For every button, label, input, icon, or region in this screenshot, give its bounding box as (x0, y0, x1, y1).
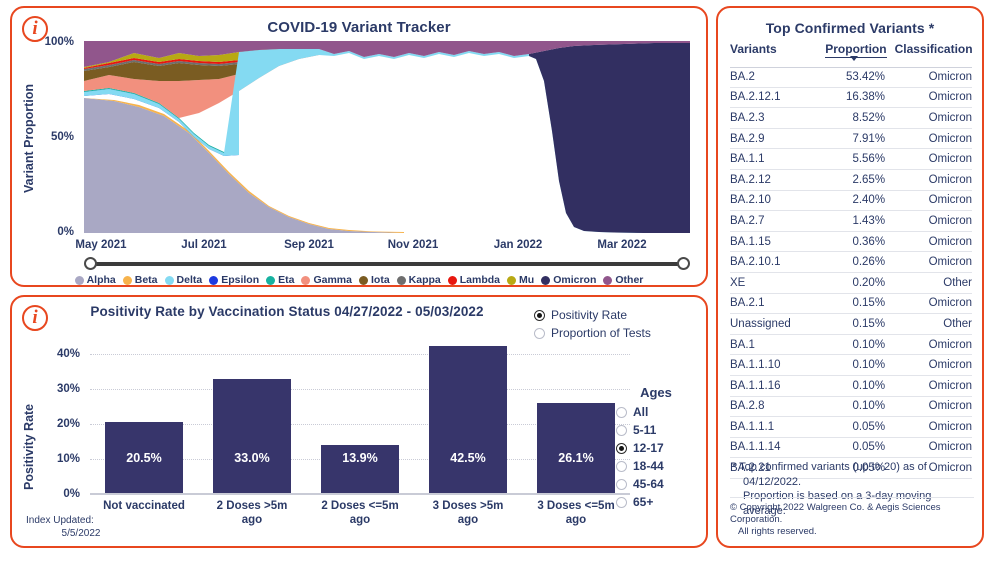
category-line-2: ago (417, 513, 520, 527)
legend-swatch-icon (359, 276, 368, 285)
radio-icon[interactable] (616, 425, 627, 436)
table-row[interactable]: BA.1.150.36%Omicron (730, 232, 972, 253)
bar-value-label: 42.5% (450, 451, 485, 493)
positivity-ytick-0: 0% (40, 488, 80, 500)
copyright-line: © Copyright 2022 Walgreen Co. & Aegis Sc… (730, 502, 974, 526)
table-row[interactable]: BA.1.1.10.05%Omicron (730, 417, 972, 438)
legend-item-eta[interactable]: Eta (266, 274, 294, 286)
radio-icon[interactable] (616, 407, 627, 418)
age-radio-label: 65+ (633, 495, 653, 509)
table-row[interactable]: BA.1.15.56%Omicron (730, 149, 972, 170)
variants-table-body: BA.253.42%OmicronBA.2.12.116.38%OmicronB… (730, 67, 972, 479)
slider-track[interactable] (91, 262, 683, 266)
footnote-line: 04/12/2022. (732, 475, 972, 490)
table-row[interactable]: BA.2.122.65%Omicron (730, 170, 972, 191)
cell-proportion: 0.15% (817, 318, 891, 330)
cell-variant: BA.1 (730, 339, 817, 351)
bar-category-label: 3 Doses <=5mago (525, 499, 628, 539)
category-line-1: 3 Doses <=5m (525, 499, 628, 513)
slider-handle-start[interactable] (84, 257, 97, 270)
variant-xtick-3: Nov 2021 (368, 239, 458, 251)
legend-item-alpha[interactable]: Alpha (75, 274, 116, 286)
slider-handle-end[interactable] (677, 257, 690, 270)
legend-label: Epsilon (221, 274, 259, 286)
table-row[interactable]: BA.2.10.10.26%Omicron (730, 252, 972, 273)
x-axis-baseline (90, 493, 630, 495)
cell-proportion: 7.91% (817, 133, 891, 145)
cell-classification: Omicron (891, 194, 972, 206)
cell-variant: BA.2.1 (730, 297, 817, 309)
positivity-ytick-20: 20% (40, 418, 80, 430)
cell-proportion: 0.10% (817, 380, 891, 392)
variant-area-chart[interactable] (84, 41, 690, 233)
age-radio-65plus[interactable]: 65+ (616, 493, 696, 511)
cell-variant: BA.2.7 (730, 215, 817, 227)
cell-classification: Omicron (891, 215, 972, 227)
positivity-ytick-10: 10% (40, 453, 80, 465)
bar[interactable]: 20.5% (105, 422, 183, 493)
index-updated-label: Index Updated: (26, 515, 94, 526)
table-row[interactable]: BA.253.42%Omicron (730, 67, 972, 88)
variant-tracker-panel: i COVID-19 Variant Tracker Variant Propo… (10, 6, 708, 287)
variant-legend: AlphaBetaDeltaEpsilonEtaGammaIotaKappaLa… (12, 274, 706, 286)
positivity-ytick-40: 40% (40, 348, 80, 360)
bar[interactable]: 13.9% (321, 445, 399, 493)
table-title: Top Confirmed Variants * (718, 20, 982, 36)
variant-ytick-50: 50% (34, 131, 74, 143)
legend-swatch-icon (301, 276, 310, 285)
legend-label: Iota (371, 274, 390, 286)
table-row[interactable]: BA.2.12.116.38%Omicron (730, 88, 972, 109)
cell-classification: Omicron (891, 91, 972, 103)
bar-wrapper: 42.5% (417, 337, 520, 493)
area-omicron (529, 43, 690, 233)
radio-icon[interactable] (616, 479, 627, 490)
cell-classification: Omicron (891, 153, 972, 165)
legend-item-kappa[interactable]: Kappa (397, 274, 441, 286)
positivity-rate-panel: i Positivity Rate by Vaccination Status … (10, 295, 708, 548)
legend-label: Beta (135, 274, 158, 286)
legend-swatch-icon (603, 276, 612, 285)
column-header-classification[interactable]: Classification (887, 41, 972, 67)
cell-classification: Omicron (891, 400, 972, 412)
cell-variant: BA.1.15 (730, 236, 817, 248)
category-line-1: 3 Doses >5m (417, 499, 520, 513)
legend-label: Mu (519, 274, 534, 286)
cell-variant: BA.2.12 (730, 174, 817, 186)
cell-variant: BA.1.1.14 (730, 441, 817, 453)
cell-variant: BA.1.1.10 (730, 359, 817, 371)
variant-xtick-2: Sep 2021 (264, 239, 354, 251)
cell-proportion: 0.05% (817, 421, 891, 433)
legend-swatch-icon (75, 276, 84, 285)
legend-label: Eta (278, 274, 294, 286)
variant-xtick-4: Jan 2022 (473, 239, 563, 251)
cell-proportion: 16.38% (817, 91, 891, 103)
cell-classification: Omicron (891, 174, 972, 186)
legend-swatch-icon (165, 276, 174, 285)
legend-item-gamma[interactable]: Gamma (301, 274, 352, 286)
cell-proportion: 0.10% (817, 339, 891, 351)
table-row[interactable]: BA.2.97.91%Omicron (730, 129, 972, 150)
variant-area-svg (84, 41, 690, 233)
column-header-proportion[interactable]: Proportion (817, 41, 886, 67)
cell-proportion: 53.42% (817, 71, 891, 83)
table-row[interactable]: BA.2.102.40%Omicron (730, 191, 972, 212)
legend-label: Kappa (409, 274, 441, 286)
legend-label: Other (615, 274, 643, 286)
sort-descending-icon (850, 56, 858, 61)
variant-ytick-100: 100% (34, 36, 74, 48)
cell-proportion: 0.36% (817, 236, 891, 248)
legend-item-mu[interactable]: Mu (507, 274, 534, 286)
table-row[interactable]: BA.1.1.100.10%Omicron (730, 355, 972, 376)
variant-xtick-0: May 2021 (56, 239, 146, 251)
table-row[interactable]: XE0.20%Other (730, 273, 972, 294)
legend-item-other[interactable]: Other (603, 274, 643, 286)
radio-icon[interactable] (616, 443, 627, 454)
bar-wrapper: 13.9% (309, 337, 412, 493)
bar[interactable]: 33.0% (213, 379, 291, 493)
index-updated: Index Updated: 5/5/2022 (26, 514, 136, 540)
variant-xtick-5: Mar 2022 (577, 239, 667, 251)
cell-variant: BA.2.10.1 (730, 256, 817, 268)
cell-proportion: 5.56% (817, 153, 891, 165)
legend-item-lambda[interactable]: Lambda (448, 274, 500, 286)
legend-swatch-icon (123, 276, 132, 285)
category-line-2: ago (525, 513, 628, 527)
cell-classification: Omicron (891, 112, 972, 124)
bar-wrapper: 20.5% (93, 337, 196, 493)
bar-category-label: 2 Doses <=5mago (309, 499, 412, 539)
footnote-line: * Top confirmed variants (up to 20) as o… (732, 460, 972, 475)
bar-category-label: 2 Doses >5mago (201, 499, 304, 539)
legend-label: Lambda (460, 274, 500, 286)
cell-classification: Omicron (891, 359, 972, 371)
cell-proportion: 8.52% (817, 112, 891, 124)
cell-proportion: 0.10% (817, 400, 891, 412)
dashboard-root: i COVID-19 Variant Tracker Variant Propo… (0, 0, 992, 561)
cell-classification: Other (891, 277, 972, 289)
cell-proportion: 2.65% (817, 174, 891, 186)
cell-variant: BA.2.12.1 (730, 91, 817, 103)
cell-classification: Omicron (891, 380, 972, 392)
age-radio-label: 5-11 (633, 423, 656, 437)
bar-category-label: 3 Doses >5mago (417, 499, 520, 539)
bar-category-labels: Not vaccinated2 Doses >5mago2 Doses <=5m… (90, 499, 630, 539)
top-confirmed-variants-panel: Top Confirmed Variants * Variants Propor… (716, 6, 984, 548)
variant-ytick-0: 0% (34, 226, 74, 238)
legend-label: Gamma (313, 274, 352, 286)
table-row[interactable]: BA.1.1.140.05%Omicron (730, 438, 972, 459)
category-line-1: Not vaccinated (93, 499, 196, 513)
legend-swatch-icon (397, 276, 406, 285)
cell-classification: Omicron (891, 236, 972, 248)
positivity-bar-chart: 20.5%33.0%13.9%42.5%26.1% (90, 337, 630, 495)
table-header-row: Variants Proportion Classification (730, 41, 972, 68)
legend-item-omicron[interactable]: Omicron (541, 274, 596, 286)
bar-wrapper: 33.0% (201, 337, 304, 493)
positivity-y-axis-label: Positivity Rate (22, 367, 40, 527)
legend-item-iota[interactable]: Iota (359, 274, 390, 286)
cell-variant: BA.2.8 (730, 400, 817, 412)
category-line-2: ago (309, 513, 412, 527)
table-row[interactable]: BA.2.71.43%Omicron (730, 211, 972, 232)
bar-series: 20.5%33.0%13.9%42.5%26.1% (90, 337, 630, 493)
table-row[interactable]: BA.1.1.160.10%Omicron (730, 376, 972, 397)
cell-classification: Omicron (891, 421, 972, 433)
legend-label: Omicron (553, 274, 596, 286)
age-radio-label: 45-64 (633, 477, 664, 491)
cell-variant: BA.1.1 (730, 153, 817, 165)
cell-classification: Omicron (891, 339, 972, 351)
radio-icon[interactable] (534, 310, 545, 321)
table-row[interactable]: BA.2.80.10%Omicron (730, 397, 972, 418)
cell-proportion: 2.40% (817, 194, 891, 206)
cell-variant: Unassigned (730, 318, 817, 330)
category-line-1: 2 Doses <=5m (309, 499, 412, 513)
cell-classification: Omicron (891, 133, 972, 145)
cell-variant: BA.1.1.16 (730, 380, 817, 392)
cell-proportion: 1.43% (817, 215, 891, 227)
cell-variant: BA.2.9 (730, 133, 817, 145)
age-radio-5-11[interactable]: 5-11 (616, 421, 696, 439)
bar[interactable]: 42.5% (429, 346, 507, 493)
legend-item-beta[interactable]: Beta (123, 274, 158, 286)
age-radio-label: 18-44 (633, 459, 664, 473)
table-row[interactable]: Unassigned0.15%Other (730, 314, 972, 335)
cell-proportion: 0.10% (817, 359, 891, 371)
info-icon[interactable]: i (22, 305, 48, 331)
column-header-variants[interactable]: Variants (730, 41, 817, 67)
legend-swatch-icon (266, 276, 275, 285)
age-radio-18-44[interactable]: 18-44 (616, 457, 696, 475)
metric-radio-positivity-rate[interactable]: Positivity Rate (534, 306, 694, 324)
age-radio-12-17[interactable]: 12-17 (616, 439, 696, 457)
cell-proportion: 0.20% (817, 277, 891, 289)
age-radio-label: 12-17 (633, 441, 664, 455)
ages-group-title: Ages (616, 385, 696, 400)
metric-radio-label: Positivity Rate (551, 308, 627, 322)
table-row[interactable]: BA.10.10%Omicron (730, 335, 972, 356)
bar-value-label: 20.5% (126, 451, 161, 493)
cell-proportion: 0.05% (817, 441, 891, 453)
cell-variant: XE (730, 277, 817, 289)
cell-classification: Omicron (891, 441, 972, 453)
index-updated-date: 5/5/2022 (26, 527, 136, 540)
bar-value-label: 13.9% (342, 451, 377, 493)
category-line-1: 2 Doses >5m (201, 499, 304, 513)
copyright-notice: © Copyright 2022 Walgreen Co. & Aegis Sc… (730, 497, 974, 538)
cell-classification: Omicron (891, 71, 972, 83)
age-radio-45-64[interactable]: 45-64 (616, 475, 696, 493)
copyright-line: All rights reserved. (730, 526, 974, 538)
radio-icon[interactable] (616, 497, 627, 508)
bar[interactable]: 26.1% (537, 403, 615, 493)
table-row[interactable]: BA.2.10.15%Omicron (730, 294, 972, 315)
cell-proportion: 0.15% (817, 297, 891, 309)
cell-classification: Omicron (891, 297, 972, 309)
cell-proportion: 0.26% (817, 256, 891, 268)
legend-item-epsilon[interactable]: Epsilon (209, 274, 259, 286)
legend-label: Alpha (87, 274, 116, 286)
ages-radio-group[interactable]: Ages All5-1112-1718-4445-6465+ (616, 385, 696, 511)
legend-swatch-icon (541, 276, 550, 285)
page-title: COVID-19 Variant Tracker (12, 19, 706, 36)
date-range-slider[interactable] (84, 257, 690, 271)
age-radio-label: All (633, 405, 648, 419)
cell-variant: BA.2 (730, 71, 817, 83)
bar-wrapper: 26.1% (525, 337, 628, 493)
bar-value-label: 26.1% (558, 451, 593, 493)
table-row[interactable]: BA.2.38.52%Omicron (730, 108, 972, 129)
radio-icon[interactable] (616, 461, 627, 472)
cell-variant: BA.2.3 (730, 112, 817, 124)
legend-swatch-icon (209, 276, 218, 285)
cell-variant: BA.1.1.1 (730, 421, 817, 433)
age-radio-all[interactable]: All (616, 403, 696, 421)
legend-swatch-icon (448, 276, 457, 285)
cell-variant: BA.2.10 (730, 194, 817, 206)
legend-swatch-icon (507, 276, 516, 285)
cell-classification: Other (891, 318, 972, 330)
category-line-2: ago (201, 513, 304, 527)
bar-value-label: 33.0% (234, 451, 269, 493)
legend-label: Delta (177, 274, 203, 286)
cell-classification: Omicron (891, 256, 972, 268)
legend-item-delta[interactable]: Delta (165, 274, 203, 286)
positivity-ytick-30: 30% (40, 383, 80, 395)
variant-xtick-1: Jul 2021 (159, 239, 249, 251)
positivity-title: Positivity Rate by Vaccination Status 04… (48, 304, 526, 319)
